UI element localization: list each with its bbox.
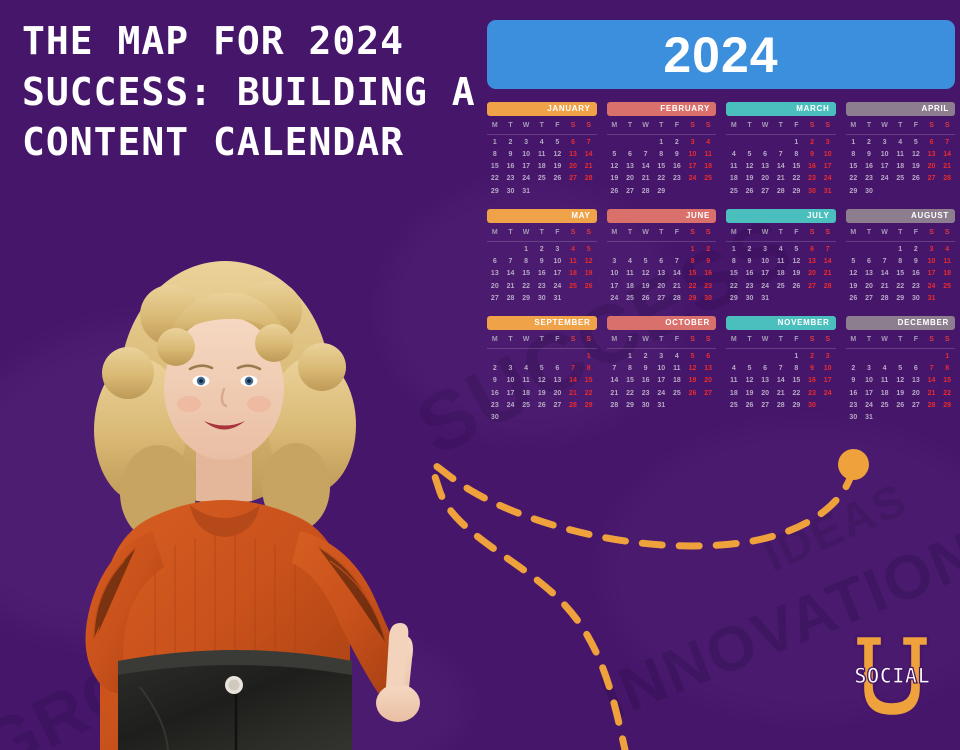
day-cell[interactable]: 15 [939, 375, 955, 386]
day-cell[interactable]: 22 [622, 388, 638, 399]
day-cell[interactable]: 18 [877, 388, 893, 399]
day-cell[interactable]: 3 [924, 244, 940, 255]
day-cell[interactable]: 21 [877, 281, 893, 292]
day-cell[interactable]: 6 [653, 256, 669, 267]
day-cell[interactable]: 9 [534, 256, 550, 267]
day-cell[interactable]: 5 [789, 244, 805, 255]
day-cell[interactable]: 19 [607, 173, 623, 184]
day-cell[interactable]: 19 [581, 268, 597, 279]
day-cell[interactable]: 23 [638, 388, 654, 399]
day-cell[interactable]: 14 [638, 161, 654, 172]
day-cell[interactable]: 13 [565, 149, 581, 160]
day-cell[interactable]: 14 [581, 149, 597, 160]
day-cell[interactable]: 10 [861, 375, 877, 386]
day-cell[interactable]: 3 [757, 244, 773, 255]
day-cell[interactable]: 9 [861, 149, 877, 160]
day-cell[interactable]: 12 [892, 375, 908, 386]
day-cell[interactable]: 24 [607, 293, 623, 304]
day-cell[interactable]: 27 [653, 293, 669, 304]
day-cell[interactable]: 22 [726, 281, 742, 292]
day-cell[interactable]: 16 [487, 388, 503, 399]
day-cell[interactable]: 9 [669, 149, 685, 160]
day-cell[interactable]: 4 [700, 137, 716, 148]
day-cell[interactable]: 24 [820, 173, 836, 184]
day-cell[interactable]: 4 [877, 363, 893, 374]
day-cell[interactable]: 30 [503, 186, 519, 197]
day-cell[interactable]: 24 [550, 281, 566, 292]
day-cell[interactable]: 2 [669, 137, 685, 148]
day-cell[interactable]: 13 [804, 256, 820, 267]
day-cell[interactable]: 28 [773, 400, 789, 411]
day-cell[interactable]: 3 [820, 351, 836, 362]
day-cell[interactable]: 13 [653, 268, 669, 279]
day-cell[interactable]: 13 [908, 375, 924, 386]
day-cell[interactable]: 9 [503, 149, 519, 160]
day-cell[interactable]: 13 [622, 161, 638, 172]
day-cell[interactable]: 10 [757, 256, 773, 267]
day-cell[interactable]: 9 [908, 256, 924, 267]
day-cell[interactable]: 24 [877, 173, 893, 184]
day-cell[interactable]: 7 [607, 363, 623, 374]
day-cell[interactable]: 8 [789, 149, 805, 160]
day-cell[interactable]: 27 [550, 400, 566, 411]
day-cell[interactable]: 25 [534, 173, 550, 184]
day-cell[interactable]: 9 [846, 375, 862, 386]
day-cell[interactable]: 26 [581, 281, 597, 292]
day-cell[interactable]: 14 [607, 375, 623, 386]
day-cell[interactable]: 31 [861, 412, 877, 423]
day-cell[interactable]: 2 [908, 244, 924, 255]
day-cell[interactable]: 7 [669, 256, 685, 267]
day-cell[interactable]: 23 [742, 281, 758, 292]
day-cell[interactable]: 20 [924, 161, 940, 172]
day-cell[interactable]: 4 [939, 244, 955, 255]
day-cell[interactable]: 29 [487, 186, 503, 197]
day-cell[interactable]: 5 [908, 137, 924, 148]
day-cell[interactable]: 23 [503, 173, 519, 184]
day-cell[interactable]: 2 [700, 244, 716, 255]
day-cell[interactable]: 18 [565, 268, 581, 279]
day-cell[interactable]: 1 [892, 244, 908, 255]
day-cell[interactable]: 25 [726, 186, 742, 197]
day-cell[interactable]: 15 [789, 375, 805, 386]
day-cell[interactable]: 6 [804, 244, 820, 255]
day-cell[interactable]: 7 [638, 149, 654, 160]
day-cell[interactable]: 29 [789, 400, 805, 411]
day-cell[interactable]: 8 [789, 363, 805, 374]
day-cell[interactable]: 3 [518, 137, 534, 148]
day-cell[interactable]: 11 [534, 149, 550, 160]
day-cell[interactable]: 1 [846, 137, 862, 148]
day-cell[interactable]: 26 [892, 400, 908, 411]
day-cell[interactable]: 8 [726, 256, 742, 267]
day-cell[interactable]: 30 [700, 293, 716, 304]
day-cell[interactable]: 29 [685, 293, 701, 304]
day-cell[interactable]: 29 [939, 400, 955, 411]
day-cell[interactable]: 11 [726, 161, 742, 172]
day-cell[interactable]: 22 [685, 281, 701, 292]
day-cell[interactable]: 13 [757, 375, 773, 386]
day-cell[interactable]: 4 [622, 256, 638, 267]
day-cell[interactable]: 30 [908, 293, 924, 304]
day-cell[interactable]: 1 [653, 137, 669, 148]
day-cell[interactable]: 2 [534, 244, 550, 255]
day-cell[interactable]: 21 [924, 388, 940, 399]
day-cell[interactable]: 12 [638, 268, 654, 279]
day-cell[interactable]: 3 [550, 244, 566, 255]
day-cell[interactable]: 29 [622, 400, 638, 411]
day-cell[interactable]: 18 [726, 173, 742, 184]
day-cell[interactable]: 23 [669, 173, 685, 184]
day-cell[interactable]: 10 [685, 149, 701, 160]
day-cell[interactable]: 8 [939, 363, 955, 374]
day-cell[interactable]: 17 [924, 268, 940, 279]
day-cell[interactable]: 27 [924, 173, 940, 184]
day-cell[interactable]: 6 [565, 137, 581, 148]
day-cell[interactable]: 20 [487, 281, 503, 292]
day-cell[interactable]: 17 [653, 375, 669, 386]
day-cell[interactable]: 20 [908, 388, 924, 399]
day-cell[interactable]: 15 [622, 375, 638, 386]
day-cell[interactable]: 30 [804, 186, 820, 197]
day-cell[interactable]: 6 [861, 256, 877, 267]
day-cell[interactable]: 25 [700, 173, 716, 184]
day-cell[interactable]: 31 [653, 400, 669, 411]
day-cell[interactable]: 28 [924, 400, 940, 411]
day-cell[interactable]: 3 [503, 363, 519, 374]
day-cell[interactable]: 26 [607, 186, 623, 197]
day-cell[interactable]: 21 [607, 388, 623, 399]
day-cell[interactable]: 27 [908, 400, 924, 411]
day-cell[interactable]: 28 [503, 293, 519, 304]
day-cell[interactable]: 24 [924, 281, 940, 292]
day-cell[interactable]: 10 [924, 256, 940, 267]
day-cell[interactable]: 12 [742, 375, 758, 386]
day-cell[interactable]: 11 [565, 256, 581, 267]
day-cell[interactable]: 30 [861, 186, 877, 197]
day-cell[interactable]: 31 [820, 186, 836, 197]
day-cell[interactable]: 2 [742, 244, 758, 255]
day-cell[interactable]: 10 [503, 375, 519, 386]
day-cell[interactable]: 7 [939, 137, 955, 148]
day-cell[interactable]: 13 [700, 363, 716, 374]
day-cell[interactable]: 10 [653, 363, 669, 374]
day-cell[interactable]: 23 [861, 173, 877, 184]
day-cell[interactable]: 30 [638, 400, 654, 411]
day-cell[interactable]: 31 [924, 293, 940, 304]
day-cell[interactable]: 1 [789, 351, 805, 362]
day-cell[interactable]: 5 [550, 137, 566, 148]
day-cell[interactable]: 4 [892, 137, 908, 148]
day-cell[interactable]: 10 [820, 363, 836, 374]
day-cell[interactable]: 7 [877, 256, 893, 267]
day-cell[interactable]: 13 [550, 375, 566, 386]
day-cell[interactable]: 14 [503, 268, 519, 279]
day-cell[interactable]: 30 [742, 293, 758, 304]
day-cell[interactable]: 14 [565, 375, 581, 386]
day-cell[interactable]: 2 [861, 137, 877, 148]
day-cell[interactable]: 22 [892, 281, 908, 292]
day-cell[interactable]: 28 [877, 293, 893, 304]
day-cell[interactable]: 9 [487, 375, 503, 386]
day-cell[interactable]: 26 [742, 400, 758, 411]
day-cell[interactable]: 11 [773, 256, 789, 267]
day-cell[interactable]: 18 [773, 268, 789, 279]
day-cell[interactable]: 1 [622, 351, 638, 362]
day-cell[interactable]: 9 [804, 149, 820, 160]
day-cell[interactable]: 19 [846, 281, 862, 292]
day-cell[interactable]: 10 [550, 256, 566, 267]
day-cell[interactable]: 12 [846, 268, 862, 279]
day-cell[interactable]: 2 [846, 363, 862, 374]
day-cell[interactable]: 27 [565, 173, 581, 184]
day-cell[interactable]: 22 [939, 388, 955, 399]
day-cell[interactable]: 20 [804, 268, 820, 279]
day-cell[interactable]: 21 [638, 173, 654, 184]
day-cell[interactable]: 6 [487, 256, 503, 267]
day-cell[interactable]: 1 [939, 351, 955, 362]
day-cell[interactable]: 19 [638, 281, 654, 292]
day-cell[interactable]: 28 [565, 400, 581, 411]
day-cell[interactable]: 22 [846, 173, 862, 184]
day-cell[interactable]: 12 [685, 363, 701, 374]
day-cell[interactable]: 23 [534, 281, 550, 292]
day-cell[interactable]: 11 [892, 149, 908, 160]
day-cell[interactable]: 4 [518, 363, 534, 374]
day-cell[interactable]: 6 [622, 149, 638, 160]
day-cell[interactable]: 4 [726, 363, 742, 374]
day-cell[interactable]: 27 [757, 186, 773, 197]
day-cell[interactable]: 27 [804, 281, 820, 292]
day-cell[interactable]: 22 [653, 173, 669, 184]
day-cell[interactable]: 29 [581, 400, 597, 411]
day-cell[interactable]: 13 [861, 268, 877, 279]
day-cell[interactable]: 4 [726, 149, 742, 160]
day-cell[interactable]: 9 [804, 363, 820, 374]
day-cell[interactable]: 24 [518, 173, 534, 184]
day-cell[interactable]: 25 [877, 400, 893, 411]
day-cell[interactable]: 18 [518, 388, 534, 399]
day-cell[interactable]: 14 [939, 149, 955, 160]
day-cell[interactable]: 20 [861, 281, 877, 292]
day-cell[interactable]: 14 [773, 161, 789, 172]
day-cell[interactable]: 26 [638, 293, 654, 304]
day-cell[interactable]: 27 [487, 293, 503, 304]
day-cell[interactable]: 7 [820, 244, 836, 255]
day-cell[interactable]: 10 [820, 149, 836, 160]
day-cell[interactable]: 31 [518, 186, 534, 197]
day-cell[interactable]: 6 [700, 351, 716, 362]
day-cell[interactable]: 6 [924, 137, 940, 148]
day-cell[interactable]: 1 [518, 244, 534, 255]
day-cell[interactable]: 17 [877, 161, 893, 172]
day-cell[interactable]: 5 [742, 149, 758, 160]
day-cell[interactable]: 1 [789, 137, 805, 148]
day-cell[interactable]: 21 [773, 173, 789, 184]
day-cell[interactable]: 28 [607, 400, 623, 411]
day-cell[interactable]: 15 [581, 375, 597, 386]
day-cell[interactable]: 22 [789, 388, 805, 399]
day-cell[interactable]: 26 [742, 186, 758, 197]
day-cell[interactable]: 21 [669, 281, 685, 292]
day-cell[interactable]: 7 [581, 137, 597, 148]
day-cell[interactable]: 14 [924, 375, 940, 386]
day-cell[interactable]: 18 [534, 161, 550, 172]
day-cell[interactable]: 23 [846, 400, 862, 411]
day-cell[interactable]: 23 [487, 400, 503, 411]
day-cell[interactable]: 14 [669, 268, 685, 279]
day-cell[interactable]: 16 [846, 388, 862, 399]
day-cell[interactable]: 16 [534, 268, 550, 279]
day-cell[interactable]: 6 [550, 363, 566, 374]
day-cell[interactable]: 9 [700, 256, 716, 267]
day-cell[interactable]: 25 [565, 281, 581, 292]
day-cell[interactable]: 17 [503, 388, 519, 399]
day-cell[interactable]: 7 [773, 149, 789, 160]
day-cell[interactable]: 14 [877, 268, 893, 279]
day-cell[interactable]: 8 [685, 256, 701, 267]
day-cell[interactable]: 3 [685, 137, 701, 148]
day-cell[interactable]: 20 [622, 173, 638, 184]
day-cell[interactable]: 5 [534, 363, 550, 374]
day-cell[interactable]: 26 [534, 400, 550, 411]
day-cell[interactable]: 7 [924, 363, 940, 374]
day-cell[interactable]: 5 [638, 256, 654, 267]
day-cell[interactable]: 24 [820, 388, 836, 399]
day-cell[interactable]: 24 [503, 400, 519, 411]
day-cell[interactable]: 11 [669, 363, 685, 374]
day-cell[interactable]: 12 [581, 256, 597, 267]
day-cell[interactable]: 27 [700, 388, 716, 399]
day-cell[interactable]: 27 [757, 400, 773, 411]
day-cell[interactable]: 5 [685, 351, 701, 362]
day-cell[interactable]: 3 [877, 137, 893, 148]
day-cell[interactable]: 28 [581, 173, 597, 184]
day-cell[interactable]: 14 [773, 375, 789, 386]
day-cell[interactable]: 22 [487, 173, 503, 184]
day-cell[interactable]: 1 [726, 244, 742, 255]
day-cell[interactable]: 19 [908, 161, 924, 172]
day-cell[interactable]: 29 [846, 186, 862, 197]
day-cell[interactable]: 28 [939, 173, 955, 184]
day-cell[interactable]: 4 [534, 137, 550, 148]
day-cell[interactable]: 19 [742, 173, 758, 184]
day-cell[interactable]: 24 [861, 400, 877, 411]
day-cell[interactable]: 15 [726, 268, 742, 279]
day-cell[interactable]: 2 [638, 351, 654, 362]
day-cell[interactable]: 13 [757, 161, 773, 172]
day-cell[interactable]: 28 [638, 186, 654, 197]
day-cell[interactable]: 20 [757, 173, 773, 184]
day-cell[interactable]: 24 [653, 388, 669, 399]
day-cell[interactable]: 8 [581, 363, 597, 374]
day-cell[interactable]: 23 [804, 173, 820, 184]
day-cell[interactable]: 30 [846, 412, 862, 423]
day-cell[interactable]: 15 [653, 161, 669, 172]
day-cell[interactable]: 29 [892, 293, 908, 304]
day-cell[interactable]: 12 [908, 149, 924, 160]
day-cell[interactable]: 5 [846, 256, 862, 267]
day-cell[interactable]: 16 [669, 161, 685, 172]
day-cell[interactable]: 5 [607, 149, 623, 160]
day-cell[interactable]: 28 [773, 186, 789, 197]
day-cell[interactable]: 13 [924, 149, 940, 160]
day-cell[interactable]: 18 [700, 161, 716, 172]
day-cell[interactable]: 24 [757, 281, 773, 292]
day-cell[interactable]: 28 [820, 281, 836, 292]
day-cell[interactable]: 5 [742, 363, 758, 374]
day-cell[interactable]: 18 [939, 268, 955, 279]
day-cell[interactable]: 30 [487, 412, 503, 423]
day-cell[interactable]: 25 [892, 173, 908, 184]
day-cell[interactable]: 16 [638, 375, 654, 386]
day-cell[interactable]: 15 [892, 268, 908, 279]
day-cell[interactable]: 8 [622, 363, 638, 374]
day-cell[interactable]: 21 [581, 161, 597, 172]
day-cell[interactable]: 6 [908, 363, 924, 374]
day-cell[interactable]: 23 [804, 388, 820, 399]
day-cell[interactable]: 6 [757, 363, 773, 374]
day-cell[interactable]: 10 [877, 149, 893, 160]
day-cell[interactable]: 16 [861, 161, 877, 172]
day-cell[interactable]: 26 [789, 281, 805, 292]
day-cell[interactable]: 17 [820, 161, 836, 172]
day-cell[interactable]: 18 [726, 388, 742, 399]
day-cell[interactable]: 22 [518, 281, 534, 292]
day-cell[interactable]: 16 [908, 268, 924, 279]
day-cell[interactable]: 17 [607, 281, 623, 292]
day-cell[interactable]: 15 [789, 161, 805, 172]
day-cell[interactable]: 31 [757, 293, 773, 304]
day-cell[interactable]: 30 [534, 293, 550, 304]
day-cell[interactable]: 10 [518, 149, 534, 160]
day-cell[interactable]: 2 [804, 137, 820, 148]
day-cell[interactable]: 9 [638, 363, 654, 374]
day-cell[interactable]: 7 [565, 363, 581, 374]
day-cell[interactable]: 3 [820, 137, 836, 148]
day-cell[interactable]: 8 [846, 149, 862, 160]
day-cell[interactable]: 8 [892, 256, 908, 267]
day-cell[interactable]: 20 [550, 388, 566, 399]
day-cell[interactable]: 12 [789, 256, 805, 267]
day-cell[interactable]: 15 [846, 161, 862, 172]
day-cell[interactable]: 12 [742, 161, 758, 172]
day-cell[interactable]: 17 [518, 161, 534, 172]
day-cell[interactable]: 23 [700, 281, 716, 292]
day-cell[interactable]: 17 [685, 161, 701, 172]
day-cell[interactable]: 27 [622, 186, 638, 197]
day-cell[interactable]: 11 [939, 256, 955, 267]
day-cell[interactable]: 11 [518, 375, 534, 386]
day-cell[interactable]: 5 [892, 363, 908, 374]
day-cell[interactable]: 29 [789, 186, 805, 197]
day-cell[interactable]: 10 [607, 268, 623, 279]
day-cell[interactable]: 29 [518, 293, 534, 304]
day-cell[interactable]: 21 [503, 281, 519, 292]
day-cell[interactable]: 17 [757, 268, 773, 279]
day-cell[interactable]: 7 [773, 363, 789, 374]
day-cell[interactable]: 21 [820, 268, 836, 279]
day-cell[interactable]: 26 [846, 293, 862, 304]
day-cell[interactable]: 31 [550, 293, 566, 304]
day-cell[interactable]: 19 [550, 161, 566, 172]
day-cell[interactable]: 1 [581, 351, 597, 362]
day-cell[interactable]: 24 [685, 173, 701, 184]
day-cell[interactable]: 19 [685, 375, 701, 386]
day-cell[interactable]: 22 [789, 173, 805, 184]
day-cell[interactable]: 11 [726, 375, 742, 386]
day-cell[interactable]: 23 [908, 281, 924, 292]
